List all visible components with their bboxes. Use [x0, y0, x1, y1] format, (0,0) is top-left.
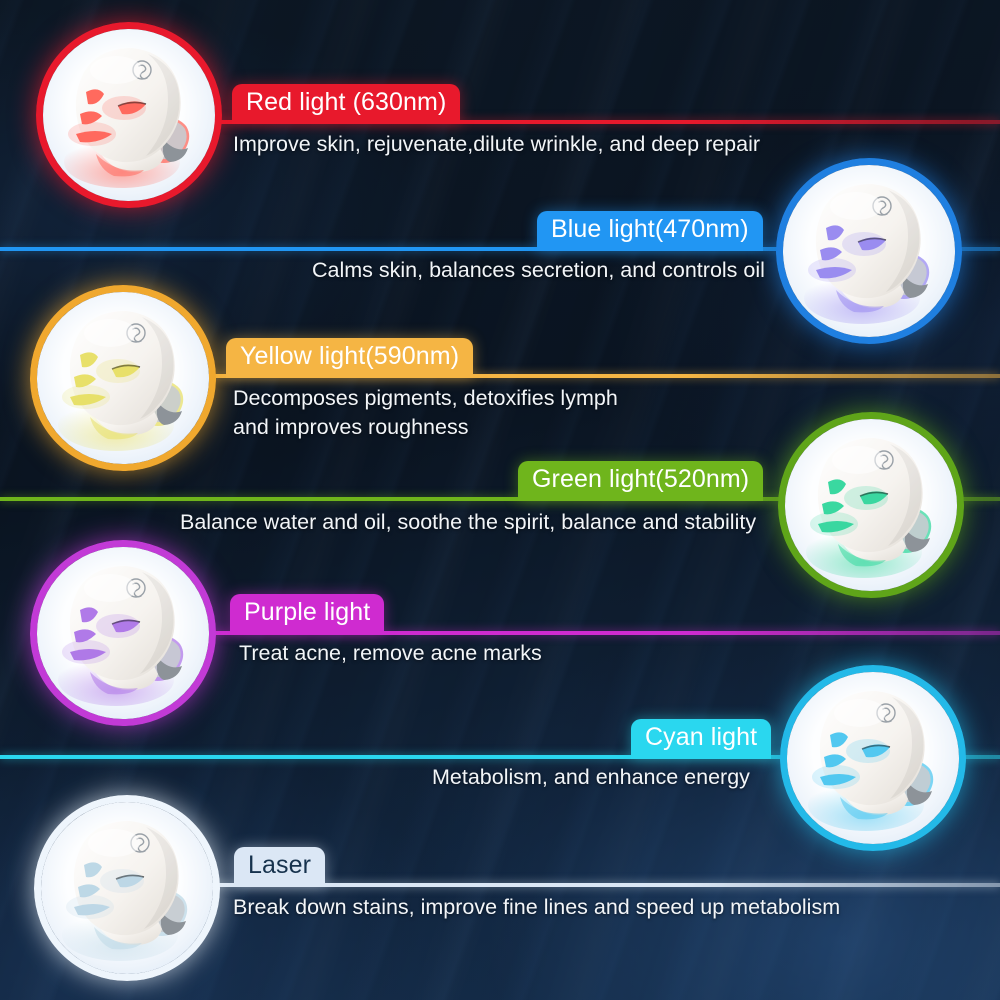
- mask-green-device: [778, 412, 964, 598]
- mask-blue-device: [776, 158, 962, 344]
- infographic-canvas: Red light (630nm) Blue light(470nm) Yell…: [0, 0, 1000, 1000]
- mask-purple: [30, 540, 216, 726]
- mask-green: [778, 412, 964, 598]
- mask-yellow: [30, 285, 216, 471]
- mask-purple-device: [30, 540, 216, 726]
- badge-red[interactable]: Red light (630nm): [232, 84, 460, 124]
- mask-laser-device: [34, 795, 220, 981]
- mask-cyan-device: [780, 665, 966, 851]
- mask-cyan: [780, 665, 966, 851]
- description-laser: Break down stains, improve fine lines an…: [233, 893, 840, 922]
- mask-yellow-device: [30, 285, 216, 471]
- badge-green[interactable]: Green light(520nm): [518, 461, 763, 501]
- badge-cyan[interactable]: Cyan light: [631, 719, 771, 759]
- mask-laser: [34, 795, 220, 981]
- description-red: Improve skin, rejuvenate,dilute wrinkle,…: [233, 130, 760, 159]
- description-green: Balance water and oil, soothe the spirit…: [180, 508, 756, 537]
- mask-red-device: [36, 22, 222, 208]
- badge-purple[interactable]: Purple light: [230, 594, 384, 634]
- badge-yellow[interactable]: Yellow light(590nm): [226, 338, 473, 378]
- description-purple: Treat acne, remove acne marks: [239, 639, 542, 668]
- badge-blue[interactable]: Blue light(470nm): [537, 211, 763, 251]
- description-yellow: Decomposes pigments, detoxifies lymph an…: [233, 384, 618, 441]
- description-cyan: Metabolism, and enhance energy: [432, 763, 750, 792]
- badge-laser[interactable]: Laser: [234, 847, 325, 887]
- mask-red: [36, 22, 222, 208]
- mask-blue: [776, 158, 962, 344]
- description-blue: Calms skin, balances secretion, and cont…: [312, 256, 765, 285]
